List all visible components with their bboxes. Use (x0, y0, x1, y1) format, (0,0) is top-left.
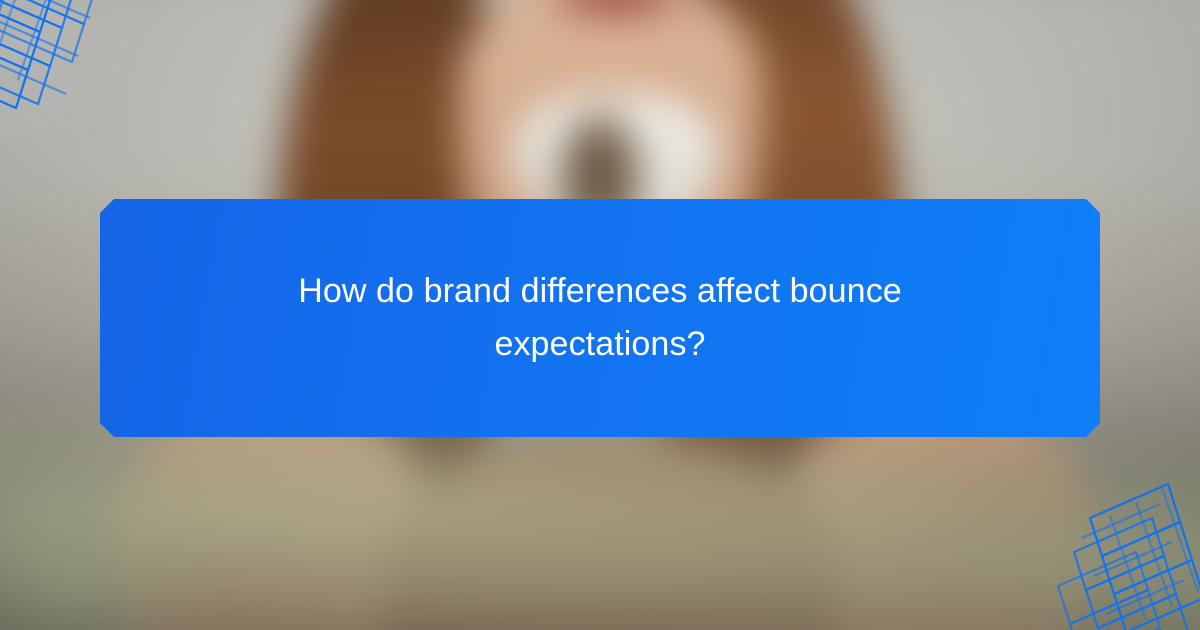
title-card: How do brand differences affect bounce e… (100, 199, 1100, 437)
social-card: How do brand differences affect bounce e… (0, 0, 1200, 630)
page-title: How do brand differences affect bounce e… (250, 265, 950, 370)
